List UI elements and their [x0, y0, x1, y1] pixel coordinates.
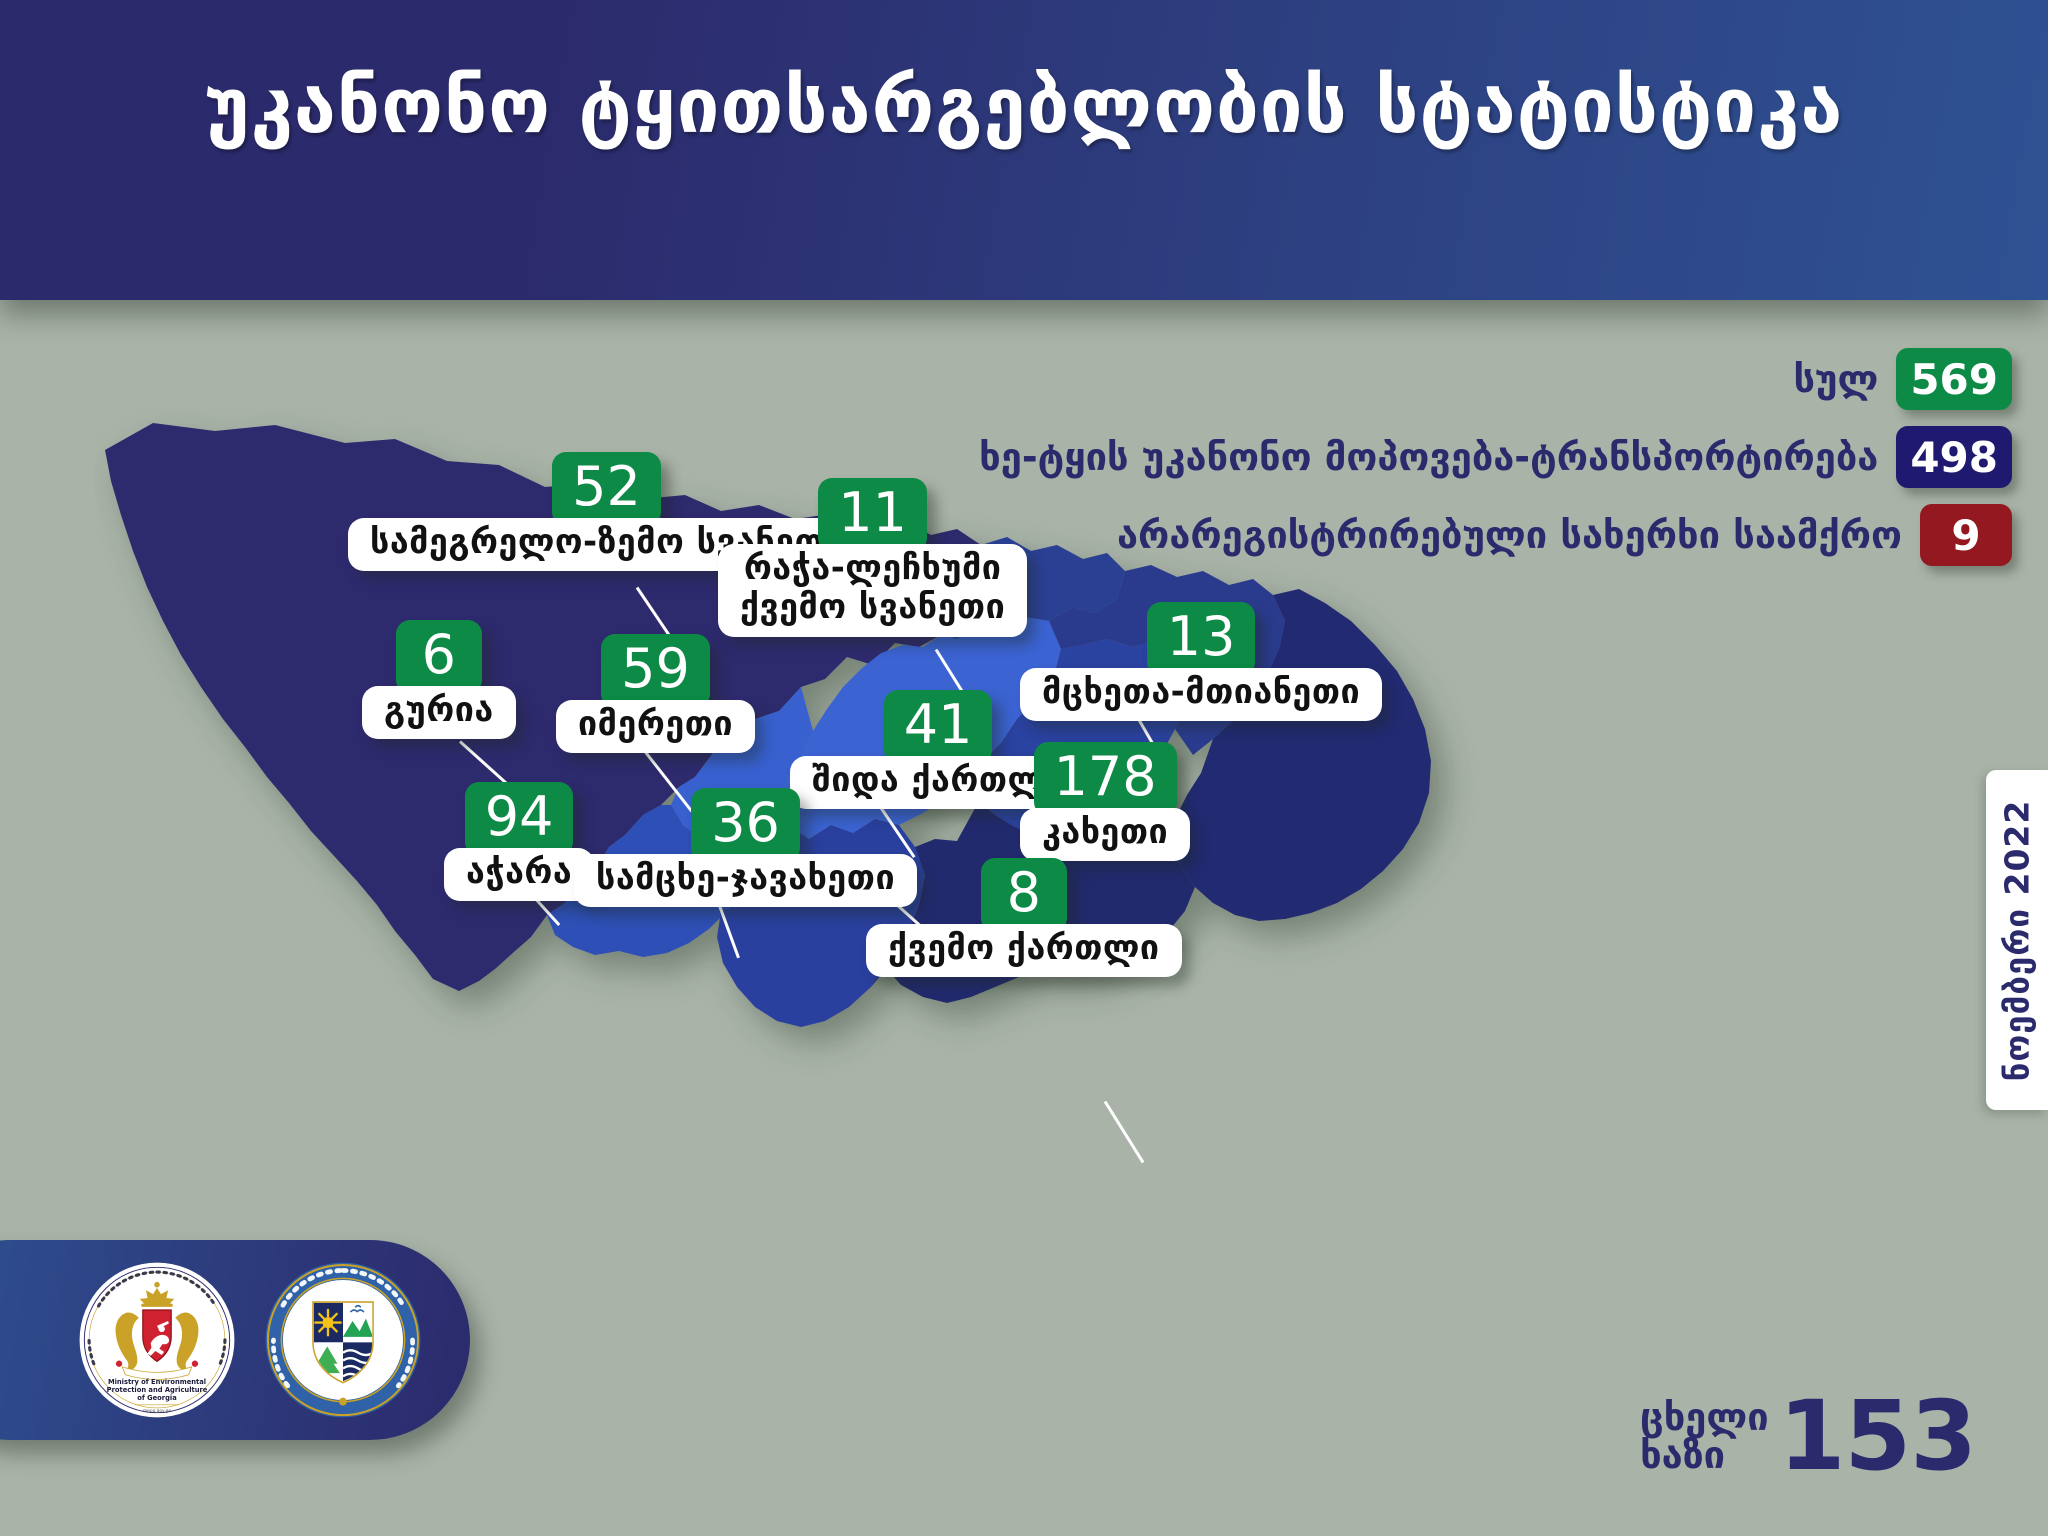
svg-text:mepa.gov.ge: mepa.gov.ge	[143, 1409, 171, 1414]
environmental-supervision-department-seal-icon	[264, 1261, 422, 1419]
hotline-label: ცხელი ხაზი	[1640, 1399, 1769, 1473]
legend-row-total: სულ 569	[1793, 348, 2012, 410]
date-tab: ნოემბერი 2022	[1986, 770, 2048, 1110]
legend-row-illegal-logging: ხე-ტყის უკანონო მოპოვება-ტრანსპორტირება …	[979, 426, 2012, 488]
svg-text:of Georgia: of Georgia	[137, 1394, 176, 1402]
legend-value-illegal-logging: 498	[1896, 426, 2012, 488]
callout-label-imereti: იმერეთი	[556, 700, 755, 753]
legend-value-total: 569	[1896, 348, 2012, 410]
callout-adjara[interactable]: 94 აჭარა	[444, 782, 594, 901]
legend: სულ 569 ხე-ტყის უკანონო მოპოვება-ტრანსპო…	[979, 348, 2012, 566]
callout-value-samegrelo-zemo-svaneti: 52	[552, 452, 661, 526]
svg-text:Protection and Agriculture: Protection and Agriculture	[107, 1386, 208, 1394]
callout-value-mtskheta-mtianeti: 13	[1147, 602, 1256, 676]
page-header: უკანონო ტყითსარგებლობის სტატისტიკა	[0, 0, 2048, 300]
callout-label-adjara: აჭარა	[444, 848, 594, 901]
page-title: უკანონო ტყითსარგებლობის სტატისტიკა	[0, 62, 2048, 149]
legend-value-unregistered-sawmill: 9	[1920, 504, 2012, 566]
hotline-badge: ცხელი ხაზი 153	[1640, 1395, 1976, 1478]
callout-value-shida-kartli: 41	[884, 690, 993, 764]
callout-value-racha-lechkhumi-kvemo-svaneti: 11	[818, 478, 927, 552]
callout-kvemo-kartli[interactable]: 8 ქვემო ქართლი	[866, 858, 1182, 977]
svg-text:Ministry of Environmental: Ministry of Environmental	[108, 1378, 206, 1386]
callout-imereti[interactable]: 59 იმერეთი	[556, 634, 755, 753]
date-label: ნოემბერი 2022	[1998, 799, 2037, 1081]
callout-value-kakheti: 178	[1034, 742, 1177, 816]
callout-label-kakheti: კახეთი	[1020, 808, 1190, 861]
callout-value-guria: 6	[396, 620, 482, 694]
callout-label-kvemo-kartli: ქვემო ქართლი	[866, 924, 1182, 977]
logo-pill: Ministry of Environmental Protection and…	[0, 1240, 470, 1440]
legend-row-unregistered-sawmill: არარეგისტრირებული სახერხი საამქრო 9	[1117, 504, 2012, 566]
callout-value-kvemo-kartli: 8	[981, 858, 1067, 932]
callout-value-imereti: 59	[601, 634, 710, 708]
callout-value-samtskhe-javakheti: 36	[691, 788, 800, 862]
callout-guria[interactable]: 6 გურია	[362, 620, 516, 739]
legend-label-total: სულ	[1793, 357, 1878, 401]
legend-label-illegal-logging: ხე-ტყის უკანონო მოპოვება-ტრანსპორტირება	[979, 435, 1878, 479]
ministry-of-environment-seal-icon: Ministry of Environmental Protection and…	[78, 1261, 236, 1419]
hotline-number: 153	[1779, 1395, 1976, 1478]
callout-kakheti[interactable]: 178 კახეთი	[1020, 742, 1190, 861]
legend-label-unregistered-sawmill: არარეგისტრირებული სახერხი საამქრო	[1117, 513, 1902, 557]
callout-value-adjara: 94	[465, 782, 574, 856]
callout-label-guria: გურია	[362, 686, 516, 739]
